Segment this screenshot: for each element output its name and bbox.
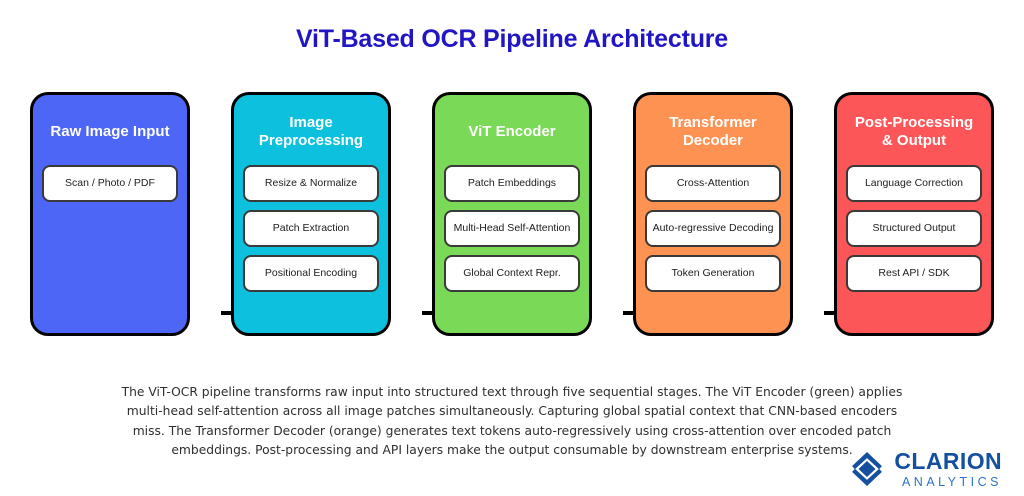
stage-title: Image Preprocessing	[259, 113, 363, 151]
pipeline-stage-transformer-decoder[interactable]: Transformer Decoder Cross-Attention Auto…	[633, 92, 793, 336]
stage-item[interactable]: Rest API / SDK	[846, 255, 982, 292]
stage-item[interactable]: Auto-regressive Decoding	[645, 210, 781, 247]
stage-item[interactable]: Scan / Photo / PDF	[42, 165, 178, 202]
stage-item[interactable]: Resize & Normalize	[243, 165, 379, 202]
stage-item[interactable]: Multi-Head Self-Attention	[444, 210, 580, 247]
pipeline-stage-row: Raw Image Input Scan / Photo / PDF Image…	[30, 92, 994, 336]
stage-item[interactable]: Global Context Repr.	[444, 255, 580, 292]
stage-item[interactable]: Structured Output	[846, 210, 982, 247]
stage-title: Post-Processing & Output	[855, 113, 973, 151]
stage-title: ViT Encoder	[468, 113, 555, 151]
pipeline-stage-vit-encoder[interactable]: ViT Encoder Patch Embeddings Multi-Head …	[432, 92, 592, 336]
diamond-chevron-icon	[848, 451, 886, 487]
clarion-analytics-logo: CLARION ANALYTICS	[848, 450, 1002, 489]
stage-title: Transformer Decoder	[669, 113, 757, 151]
page-title: ViT-Based OCR Pipeline Architecture	[0, 25, 1024, 54]
stage-item[interactable]: Patch Embeddings	[444, 165, 580, 202]
stage-item-list: Cross-Attention Auto-regressive Decoding…	[646, 165, 780, 292]
stage-item[interactable]: Patch Extraction	[243, 210, 379, 247]
diagram-caption: The ViT-OCR pipeline transforms raw inpu…	[110, 383, 914, 461]
stage-item[interactable]: Language Correction	[846, 165, 982, 202]
diagram-page: ViT-Based OCR Pipeline Architecture Raw …	[0, 0, 1024, 496]
stage-item-list: Language Correction Structured Output Re…	[847, 165, 981, 292]
stage-item-list: Scan / Photo / PDF	[43, 165, 177, 202]
logo-secondary-text: ANALYTICS	[894, 476, 1002, 489]
pipeline-stage-raw-image-input[interactable]: Raw Image Input Scan / Photo / PDF	[30, 92, 190, 336]
stage-title: Raw Image Input	[50, 113, 169, 151]
logo-text: CLARION ANALYTICS	[894, 450, 1002, 489]
stage-item[interactable]: Token Generation	[645, 255, 781, 292]
pipeline-stage-image-preprocessing[interactable]: Image Preprocessing Resize & Normalize P…	[231, 92, 391, 336]
stage-item[interactable]: Cross-Attention	[645, 165, 781, 202]
logo-primary-text: CLARION	[894, 450, 1002, 473]
stage-item-list: Patch Embeddings Multi-Head Self-Attenti…	[445, 165, 579, 292]
stage-item-list: Resize & Normalize Patch Extraction Posi…	[244, 165, 378, 292]
pipeline-stage-post-processing-output[interactable]: Post-Processing & Output Language Correc…	[834, 92, 994, 336]
stage-item[interactable]: Positional Encoding	[243, 255, 379, 292]
